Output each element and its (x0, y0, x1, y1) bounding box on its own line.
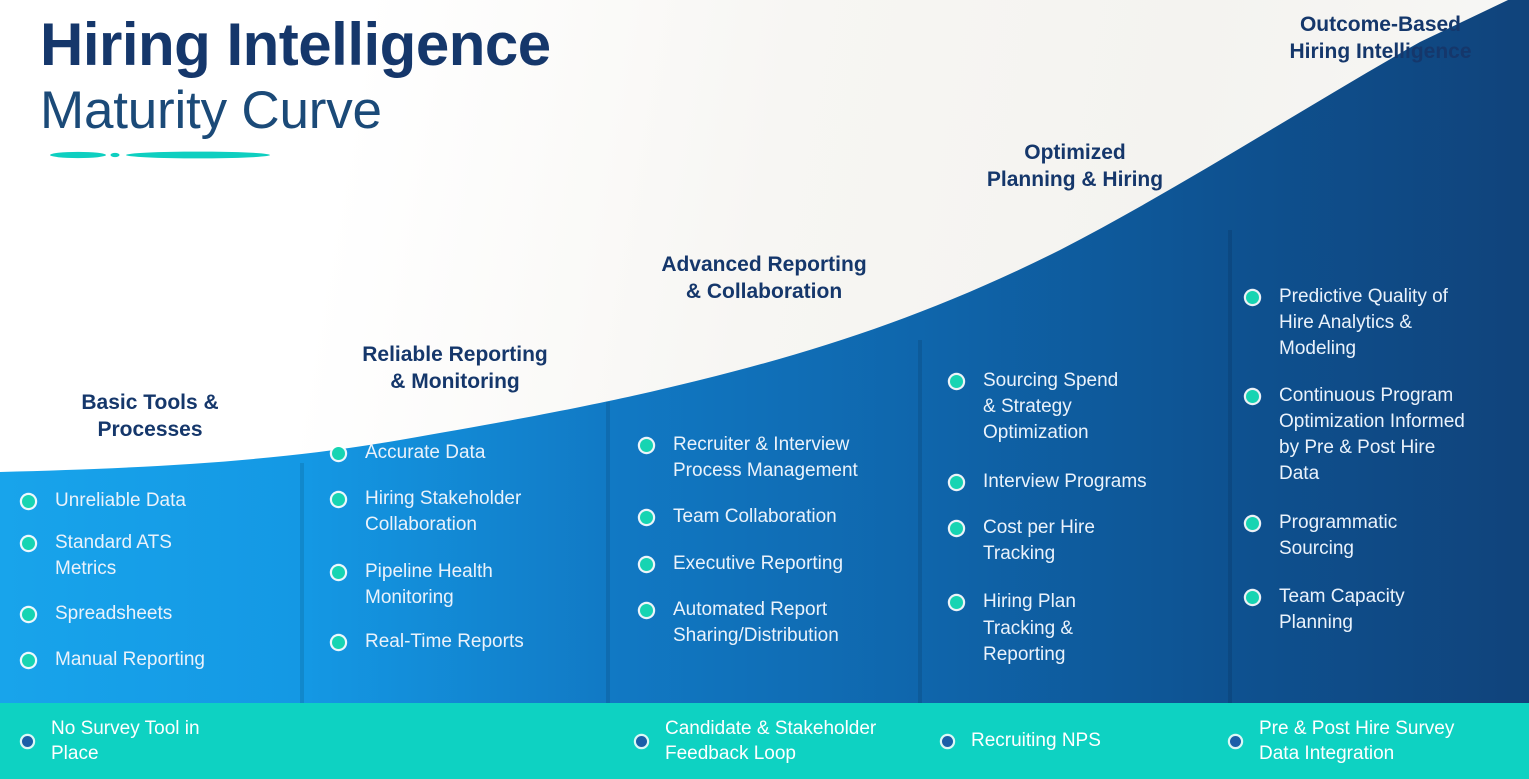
bullet-dot-icon (22, 537, 35, 550)
stage-3-heading-line-1: Advanced Reporting (661, 253, 866, 276)
infographic-canvas: Hiring Intelligence Maturity Curve Basic… (0, 0, 1529, 779)
list-item[interactable]: Cost per Hire Tracking (950, 515, 1218, 567)
stage-1-heading-line-2: Processes (97, 418, 202, 441)
survey-item-label: No Survey Tool in Place (51, 716, 219, 767)
bullet-dot-icon (636, 736, 647, 747)
list-item[interactable]: Accurate Data (332, 440, 596, 466)
bullet-dot-icon (1246, 517, 1259, 530)
stage-4-heading-line-2: Planning & Hiring (987, 168, 1163, 191)
stage-column-3: Advanced Reporting & Collaboration Recru… (610, 0, 918, 703)
stage-2-heading-line-2: & Monitoring (390, 370, 519, 393)
stage-5-item-list: Predictive Quality of Hire Analytics & M… (1232, 284, 1529, 652)
list-item[interactable]: Predictive Quality of Hire Analytics & M… (1246, 284, 1519, 363)
survey-item[interactable]: No Survey Tool in Place (22, 703, 262, 779)
bullet-dot-icon (950, 375, 963, 388)
stage-4-heading: Optimized Planning & Hiring (922, 140, 1228, 194)
survey-band: No Survey Tool in Place Candidate & Stak… (0, 703, 1529, 779)
bullet-dot-icon (1246, 291, 1259, 304)
stage-5-heading: Outcome-Based Hiring Intelligence (1232, 12, 1529, 66)
bullet-dot-icon (332, 566, 345, 579)
bullet-dot-icon (640, 558, 653, 571)
list-item-label: Hiring Stakeholder Collaboration (365, 486, 551, 538)
stage-column-2: Reliable Reporting & Monitoring Accurate… (304, 0, 606, 703)
stage-5-heading-line-1: Outcome-Based (1300, 13, 1461, 36)
list-item[interactable]: Executive Reporting (640, 551, 908, 577)
list-item[interactable]: Team Collaboration (640, 504, 908, 530)
list-item[interactable]: Team Capacity Planning (1246, 584, 1519, 636)
list-item[interactable]: Sourcing Spend & Strategy Optimization (950, 368, 1218, 447)
bullet-dot-icon (942, 736, 953, 747)
list-item[interactable]: Pipeline Health Monitoring (332, 559, 596, 611)
list-item-label: Cost per Hire Tracking (983, 515, 1113, 567)
stage-1-heading: Basic Tools & Processes (0, 390, 300, 444)
list-item-label: Standard ATS Metrics (55, 530, 215, 582)
bullet-dot-icon (332, 636, 345, 649)
list-item-label: Interview Programs (983, 469, 1147, 495)
bullet-dot-icon (332, 447, 345, 460)
bullet-dot-icon (950, 522, 963, 535)
list-item[interactable]: Automated Report Sharing/Distribution (640, 597, 908, 649)
stage-2-heading: Reliable Reporting & Monitoring (304, 342, 606, 396)
list-item-label: Automated Report Sharing/Distribution (673, 597, 873, 649)
list-item[interactable]: Spreadsheets (22, 601, 290, 627)
list-item[interactable]: Continuous Program Optimization Informed… (1246, 383, 1519, 488)
list-item[interactable]: Hiring Stakeholder Collaboration (332, 486, 596, 538)
bullet-dot-icon (1246, 591, 1259, 604)
bullet-dot-icon (1246, 390, 1259, 403)
list-item[interactable]: Programmatic Sourcing (1246, 510, 1519, 562)
bullet-dot-icon (1230, 736, 1241, 747)
bullet-dot-icon (640, 604, 653, 617)
list-item-label: Hiring Plan Tracking & Reporting (983, 589, 1107, 668)
list-item[interactable]: Recruiter & Interview Process Management (640, 432, 908, 484)
stage-column-1: Basic Tools & Processes Unreliable Data … (0, 0, 300, 703)
stage-3-heading: Advanced Reporting & Collaboration (610, 252, 918, 306)
list-item-label: Continuous Program Optimization Informed… (1279, 383, 1479, 488)
bullet-dot-icon (950, 596, 963, 609)
stage-2-item-list: Accurate Data Hiring Stakeholder Collabo… (304, 440, 606, 671)
list-item-label: Manual Reporting (55, 647, 205, 673)
stage-5-heading-line-2: Hiring Intelligence (1289, 40, 1471, 63)
stage-1-item-list: Unreliable Data Standard ATS Metrics Spr… (0, 488, 300, 689)
stage-4-heading-line-1: Optimized (1024, 141, 1126, 164)
stage-1-heading-line-1: Basic Tools & (81, 391, 218, 414)
survey-item-label: Recruiting NPS (971, 728, 1101, 753)
list-item-label: Real-Time Reports (365, 629, 524, 655)
list-item-label: Spreadsheets (55, 601, 172, 627)
bullet-dot-icon (22, 654, 35, 667)
list-item-label: Team Collaboration (673, 504, 837, 530)
list-item-label: Executive Reporting (673, 551, 843, 577)
list-item[interactable]: Unreliable Data (22, 488, 290, 514)
stage-column-4: Optimized Planning & Hiring Sourcing Spe… (922, 0, 1228, 703)
stage-3-heading-line-2: & Collaboration (686, 280, 842, 303)
list-item-label: Team Capacity Planning (1279, 584, 1421, 636)
list-item[interactable]: Manual Reporting (22, 647, 290, 673)
stage-3-item-list: Recruiter & Interview Process Management… (610, 432, 918, 665)
list-item-label: Unreliable Data (55, 488, 186, 514)
survey-item[interactable]: Recruiting NPS (942, 703, 1192, 779)
bullet-dot-icon (332, 493, 345, 506)
list-item-label: Sourcing Spend & Strategy Optimization (983, 368, 1133, 447)
list-item-label: Pipeline Health Monitoring (365, 559, 525, 611)
bullet-dot-icon (950, 476, 963, 489)
bullet-dot-icon (640, 439, 653, 452)
survey-item[interactable]: Pre & Post Hire Survey Data Integration (1230, 703, 1520, 779)
list-item[interactable]: Hiring Plan Tracking & Reporting (950, 589, 1218, 668)
stage-2-heading-line-1: Reliable Reporting (362, 343, 548, 366)
bullet-dot-icon (22, 495, 35, 508)
survey-item[interactable]: Candidate & Stakeholder Feedback Loop (636, 703, 926, 779)
stage-column-5: Outcome-Based Hiring Intelligence Predic… (1232, 0, 1529, 703)
list-item-label: Recruiter & Interview Process Management (673, 432, 887, 484)
list-item-label: Predictive Quality of Hire Analytics & M… (1279, 284, 1471, 363)
bullet-dot-icon (640, 511, 653, 524)
list-item[interactable]: Interview Programs (950, 469, 1218, 495)
list-item[interactable]: Real-Time Reports (332, 629, 596, 655)
list-item[interactable]: Standard ATS Metrics (22, 530, 290, 582)
bullet-dot-icon (22, 608, 35, 621)
survey-item-label: Candidate & Stakeholder Feedback Loop (665, 716, 909, 767)
list-item-label: Programmatic Sourcing (1279, 510, 1427, 562)
survey-item-label: Pre & Post Hire Survey Data Integration (1259, 716, 1475, 767)
list-item-label: Accurate Data (365, 440, 485, 466)
stage-4-item-list: Sourcing Spend & Strategy Optimization I… (922, 368, 1228, 684)
bullet-dot-icon (22, 736, 33, 747)
